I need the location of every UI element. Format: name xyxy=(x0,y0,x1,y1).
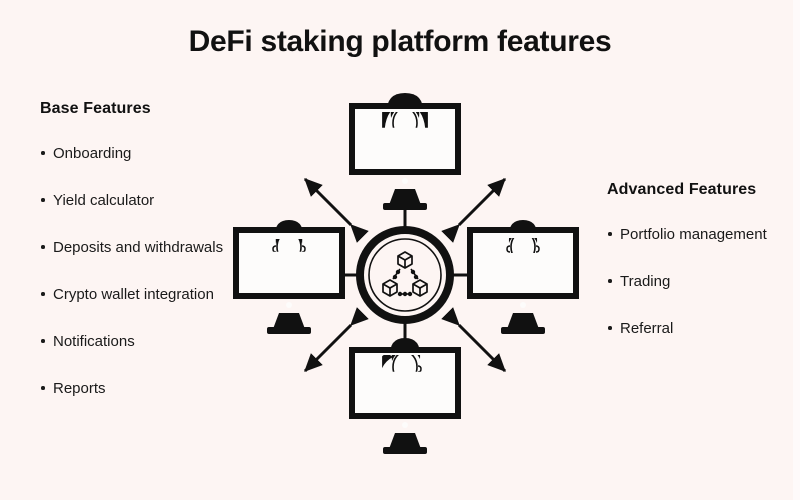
arrow-top-right-diagonal xyxy=(459,179,505,225)
arrow-bottom-left-diagonal xyxy=(305,325,351,371)
monitor-node-top[interactable] xyxy=(349,93,461,210)
list-item: Trading xyxy=(607,271,797,292)
monitor-node-bottom[interactable] xyxy=(349,338,461,454)
advanced-features-list: Portfolio management Trading Referral xyxy=(607,224,797,339)
blockchain-network-icon[interactable] xyxy=(360,230,450,320)
hub-and-spoke-diagram xyxy=(215,85,595,465)
advanced-features-column: Advanced Features Portfolio management T… xyxy=(607,180,797,339)
arrow-bottom-right-diagonal xyxy=(459,325,505,371)
monitor-node-right[interactable] xyxy=(467,220,579,334)
right-edge-strip xyxy=(793,0,800,500)
advanced-features-heading: Advanced Features xyxy=(607,180,797,200)
infographic-canvas: DeFi staking platform features Base Feat… xyxy=(0,0,800,500)
arrow-top-left-diagonal xyxy=(305,179,351,225)
list-item: Referral xyxy=(607,318,797,339)
monitor-node-left[interactable] xyxy=(233,220,345,334)
list-item: Portfolio management xyxy=(607,224,797,245)
page-title: DeFi staking platform features xyxy=(0,24,800,60)
